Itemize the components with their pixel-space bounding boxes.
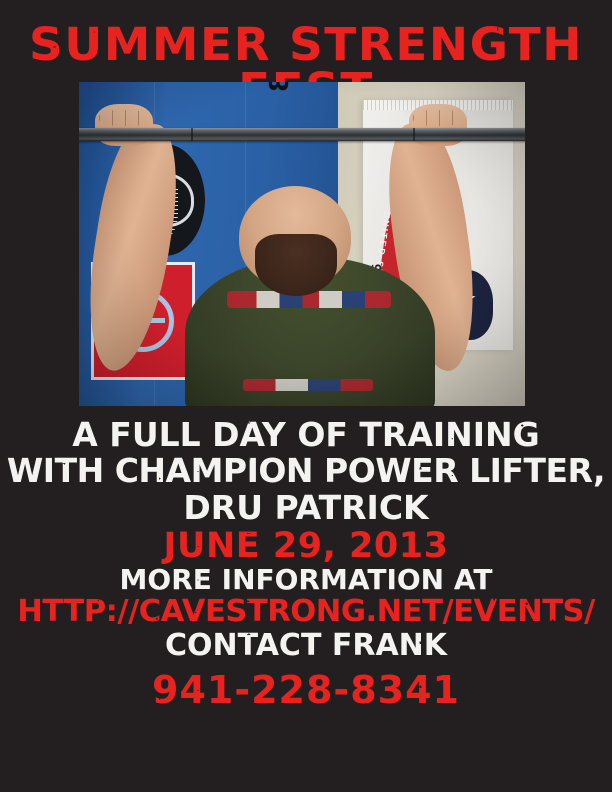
- hero-photo: 82nd UNITED STATES 1775: [79, 82, 525, 406]
- flag-82nd-label: 82nd: [265, 82, 295, 92]
- line-full-day-of-training: A FULL DAY OF TRAINING: [0, 418, 612, 452]
- line-presenter-name: DRU PATRICK: [0, 491, 612, 525]
- barbell: [79, 128, 525, 141]
- line-contact-phone[interactable]: 941-228-8341: [0, 671, 612, 711]
- lifter-beard: [255, 234, 337, 296]
- line-with-champion-power-lifter: WITH CHAMPION POWER LIFTER,: [0, 454, 612, 488]
- line-more-information-at: MORE INFORMATION AT: [0, 565, 612, 594]
- shirt-graphic-lower: [243, 379, 373, 391]
- poster-body-copy: A FULL DAY OF TRAINING WITH CHAMPION POW…: [0, 418, 612, 710]
- line-event-url[interactable]: HTTP://CAVESTRONG.NET/EVENTS/: [0, 596, 612, 627]
- poster-flyer: SUMMER STRENGTH FEST 82nd UNITED STATES: [0, 0, 612, 792]
- line-contact-person: CONTACT FRANK: [0, 630, 612, 661]
- line-event-date: JUNE 29, 2013: [0, 528, 612, 564]
